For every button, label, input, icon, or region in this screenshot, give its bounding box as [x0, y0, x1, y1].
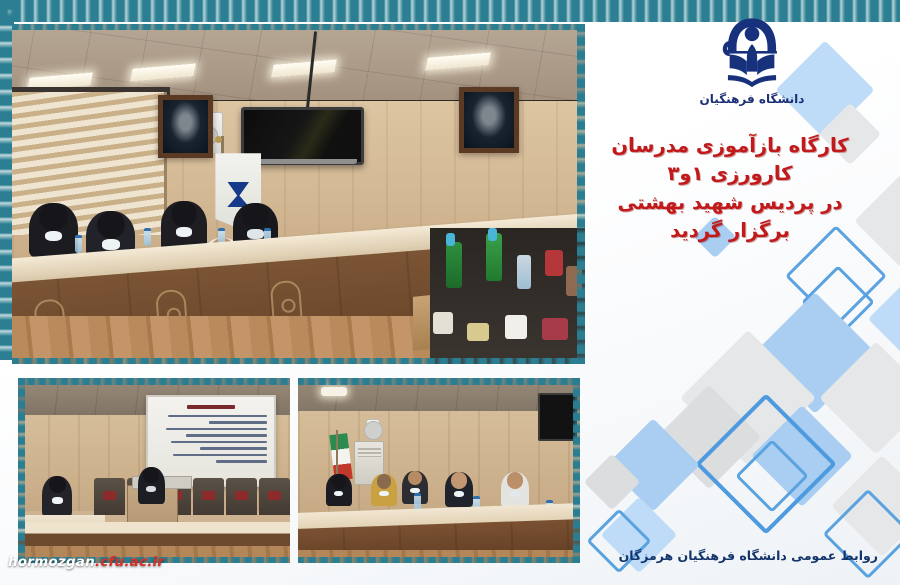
wall-speaker — [366, 419, 380, 439]
url-host: hormozgan — [8, 554, 95, 570]
headline-line-3: برگزار گردید — [574, 217, 886, 245]
attendee — [371, 474, 396, 505]
headline-line-2: در پردیس شهید بهشتی — [574, 189, 886, 217]
headline-line-1: کارگاه بازآموزی مدرسان کارورزی ۱و۳ — [574, 132, 886, 189]
attendee — [445, 472, 473, 507]
photo-attendees — [298, 378, 580, 563]
photo-presentation — [18, 378, 290, 563]
projection-screen — [146, 395, 277, 488]
farhangian-university-logo-icon — [709, 8, 795, 94]
attendee — [501, 472, 529, 507]
refreshment-table — [430, 228, 585, 364]
university-logo-block: دانشگاه فرهنگیان — [692, 8, 812, 106]
poster-canvas: دانشگاه فرهنگیان کارگاه بازآموزی مدرسان … — [0, 0, 900, 585]
attendee — [326, 474, 351, 505]
headline-block: کارگاه بازآموزی مدرسان کارورزی ۱و۳ در پر… — [574, 132, 886, 245]
portrait-frame-right — [459, 87, 519, 153]
photo-main-conference — [12, 24, 585, 364]
wall-tv-screen — [538, 393, 577, 441]
public-relations-credit: روابط عمومی دانشگاه فرهنگیان هرمزگان — [619, 548, 878, 563]
logo-wordmark: دانشگاه فرهنگیان — [692, 92, 812, 106]
url-domain: .cfu.ac.ir — [95, 554, 164, 570]
portrait-frame-left — [158, 95, 212, 158]
seated-attendee — [42, 476, 72, 517]
participant — [29, 203, 78, 257]
presenter — [138, 467, 165, 504]
website-url-badge[interactable]: hormozgan.cfu.ac.ir — [0, 552, 174, 573]
